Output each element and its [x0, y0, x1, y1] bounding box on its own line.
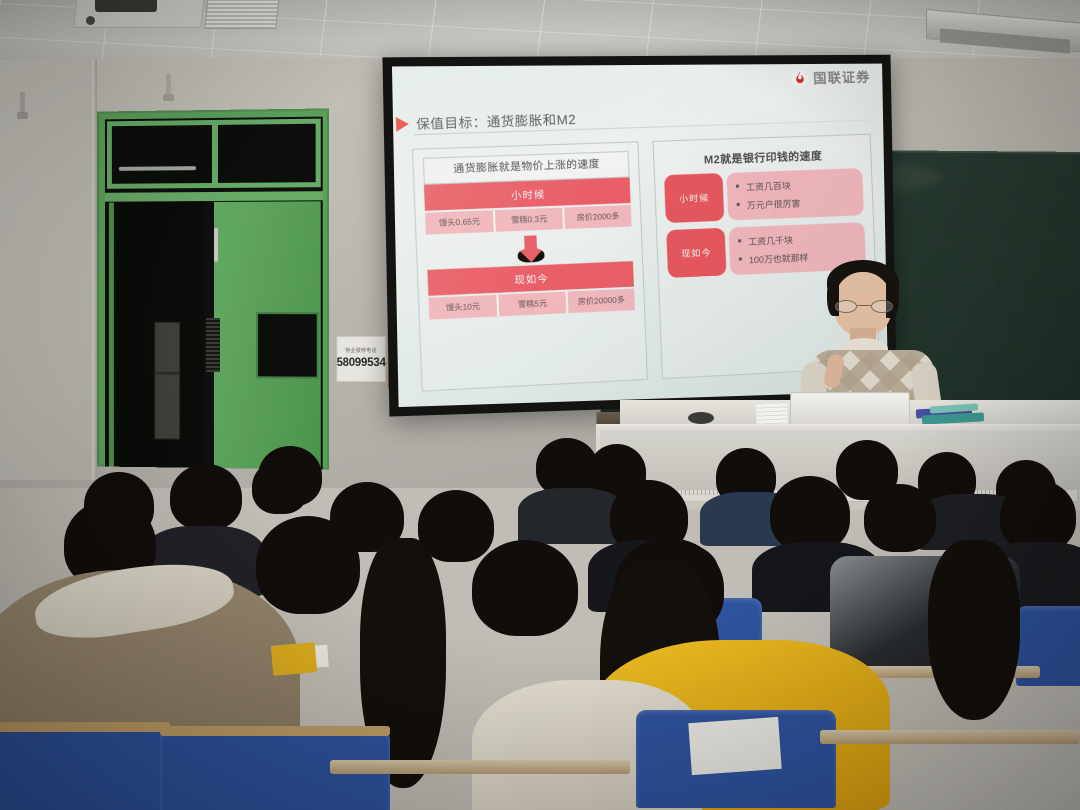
m2-bullet: 工资几百块	[736, 176, 854, 193]
student-head	[770, 476, 850, 552]
classroom-door[interactable]	[97, 108, 329, 469]
m2-label-now: 现如今	[666, 228, 726, 278]
maintenance-phone-sign: 物业报修电话 58099534	[336, 336, 386, 382]
arrow-down-icon	[516, 235, 544, 263]
inflation-cell: 房价2000多	[564, 205, 631, 229]
interior-vent-icon	[206, 318, 220, 372]
lecture-hall-scene: 物业报修电话 58099534 消防疏散图 国联证券	[0, 0, 1080, 810]
student-head	[418, 490, 494, 562]
transom-glint	[119, 166, 196, 171]
student-head	[170, 464, 242, 530]
m2-bullet: 工资几千块	[738, 231, 856, 249]
student-head	[864, 484, 936, 552]
projector-icon	[95, 0, 157, 12]
seat-trim	[160, 726, 390, 736]
wall-hook-icon	[166, 74, 171, 96]
wall-hook-icon	[20, 92, 25, 114]
auditorium-seat[interactable]	[0, 726, 170, 810]
desk-edge	[820, 730, 1080, 744]
inflation-cell: 房价20000多	[568, 289, 635, 314]
laptop[interactable]	[790, 392, 911, 426]
door-leaf-edge	[109, 203, 114, 467]
door-vision-panel	[256, 312, 319, 379]
m2-bullet: 万元户很厉害	[736, 194, 854, 212]
brand-name: 国联证券	[813, 66, 871, 88]
student-head	[256, 516, 360, 614]
inflation-panel: 通货膨胀就是物价上涨的速度 小时候 馒头0.65元 雪糕0.3元 房价2000多	[412, 141, 648, 391]
note-paper	[688, 717, 781, 775]
door-handle-icon[interactable]	[214, 228, 218, 262]
projector-lens-icon	[86, 16, 95, 25]
mouse-icon[interactable]	[688, 412, 714, 424]
maintenance-phone-number: 58099534	[337, 357, 386, 369]
student-head	[472, 540, 578, 636]
interior-window	[154, 322, 180, 440]
maintenance-label: 物业报修电话	[345, 349, 377, 354]
air-vent-icon	[204, 0, 279, 29]
flame-logo-icon	[791, 69, 808, 87]
inflation-cell: 馒头0.65元	[425, 210, 496, 234]
eyeglasses-icon	[835, 300, 893, 313]
arrow-right-icon	[396, 116, 409, 131]
desk-edge	[330, 760, 630, 774]
student-head	[252, 460, 308, 514]
ponytail	[928, 540, 1020, 720]
door-mid-rail	[105, 191, 323, 202]
inflation-cell: 馒头10元	[428, 295, 499, 320]
m2-block-past: 小时候 工资几百块 万元户很厉害	[664, 168, 864, 223]
audience	[0, 430, 1080, 810]
interior-window-bar	[154, 372, 180, 375]
transom-mullion	[212, 120, 218, 188]
seat-trim	[0, 722, 170, 732]
brand-logo: 国联证券	[791, 66, 871, 88]
slide-title-row: 保值目标：通货膨胀和M2	[413, 100, 867, 133]
inflation-cell: 雪糕5元	[498, 292, 568, 317]
left-wall	[0, 60, 96, 480]
m2-bullets-past: 工资几百块 万元户很厉害	[726, 168, 864, 220]
m2-label-past: 小时候	[664, 173, 724, 223]
yellow-folder	[271, 642, 317, 676]
inflation-cell: 雪糕0.3元	[495, 208, 565, 232]
